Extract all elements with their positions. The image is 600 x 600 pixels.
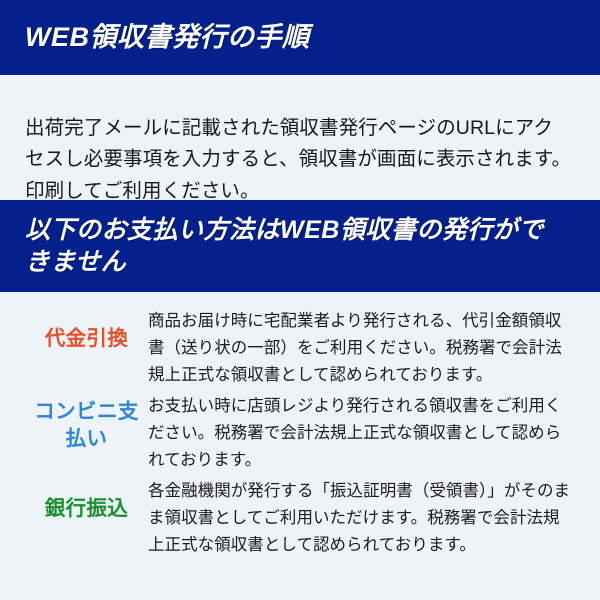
receipt-info-page: WEB領収書発行の手順 出荷完了メールに記載された領収書発行ページのURLにアク… [0,0,600,600]
payment-method-row-konbini: コンビニ支払い お支払い時に店頭レジより発行される領収書をご利用ください。税務署… [0,389,600,474]
section-title-unsupported-methods: 以下のお支払い方法はWEB領収書の発行ができません [25,214,545,278]
payment-method-label-konbini: コンビニ支払い [25,389,148,452]
intro-block: 出荷完了メールに記載された領収書発行ページのURLにアクセスし必要事項を入力する… [0,75,600,200]
payment-method-description-bank: 各金融機関が発行する「振込証明書（受領書）」がそのまま領収書としてご利用いただけ… [148,474,572,559]
page-title: WEB領収書発行の手順 [25,21,310,54]
payment-method-description-cod: 商品お届け時に宅配業者より発行される、代引金額領収書（送り状の一部）をご利用くだ… [148,304,572,389]
payment-method-description-konbini: お支払い時に店頭レジより発行される領収書をご利用ください。税務署で会計法規上正式… [148,389,572,474]
payment-method-row-cod: 代金引換 商品お届け時に宅配業者より発行される、代引金額領収書（送り状の一部）を… [0,304,600,389]
header-bar-secondary: 以下のお支払い方法はWEB領収書の発行ができません [0,200,600,292]
payment-method-row-bank: 銀行振込 各金融機関が発行する「振込証明書（受領書）」がそのまま領収書としてご利… [0,474,600,559]
payment-methods-list: 代金引換 商品お届け時に宅配業者より発行される、代引金額領収書（送り状の一部）を… [0,292,600,559]
payment-method-label-bank: 銀行振込 [25,474,148,523]
intro-paragraph: 出荷完了メールに記載された領収書発行ページのURLにアクセスし必要事項を入力する… [25,113,572,208]
header-bar-primary: WEB領収書発行の手順 [0,0,600,75]
payment-method-label-cod: 代金引換 [25,304,148,353]
